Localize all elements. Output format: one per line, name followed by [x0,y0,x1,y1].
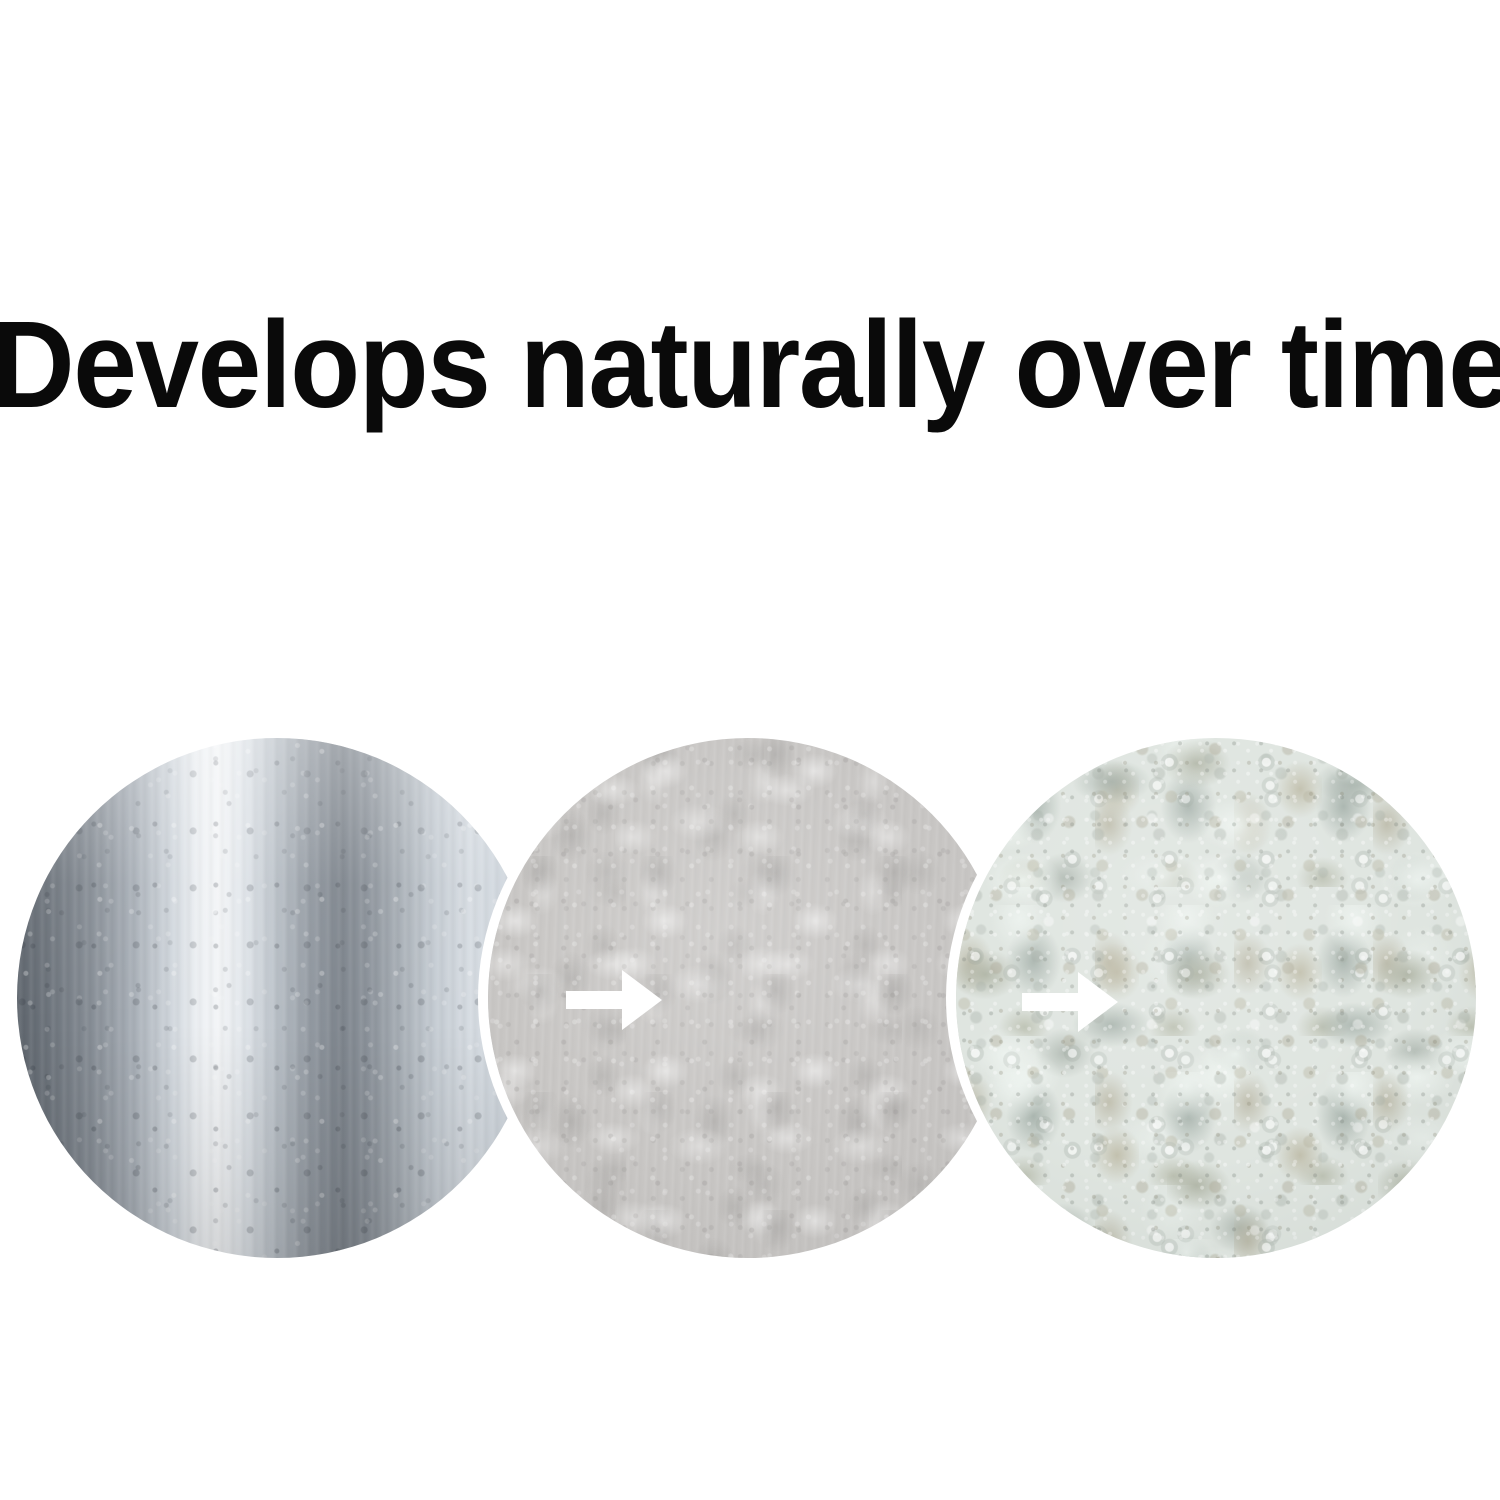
page-title: Develops naturally over time [0,304,1443,427]
stage-patina-circle [956,738,1476,1258]
zinc-sheen-overlay [17,738,537,1258]
patina-vignette [956,738,1476,1258]
stage-new-zinc-circle [17,738,537,1258]
patina-progression [0,738,1500,1262]
weathered-vignette [488,738,1008,1258]
slide-canvas: Develops naturally over time [0,0,1500,1500]
stage-weathered-zinc-circle [488,738,1008,1258]
